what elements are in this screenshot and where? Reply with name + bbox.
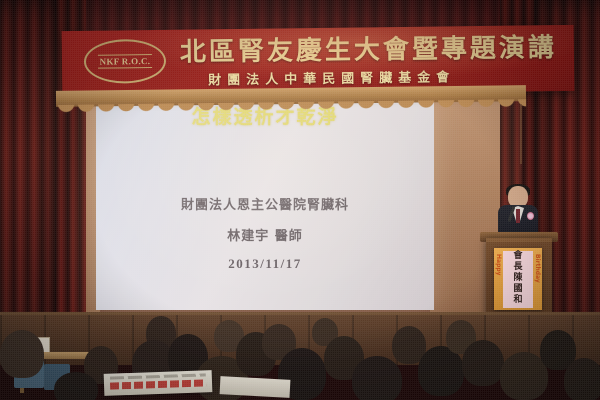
slide-line-date: 2013/11/17 [96, 256, 434, 272]
audience-member [564, 358, 600, 400]
handout-text-line [110, 373, 206, 379]
slide-line-presenter: 林建宇 醫師 [96, 225, 434, 244]
nkf-logo-text: NKF R.O.C. [98, 54, 153, 69]
flower-corsage-icon [527, 212, 534, 220]
program-handout-secondary [220, 376, 291, 398]
speaker-tie [516, 209, 520, 223]
nkf-logo-icon: NKF R.O.C. [84, 39, 167, 84]
handout-headline [110, 379, 206, 389]
hanging-cable [520, 104, 522, 164]
slide-line-organization: 財團法人恩主公醫院腎臟科 [96, 194, 434, 213]
audience-member [0, 330, 44, 378]
banner-subtitle: 財團法人中華民國腎臟基金會 [208, 66, 455, 88]
podium-sign-name: 會長陳國和 [494, 251, 542, 306]
audience-member [462, 340, 504, 386]
banner-main-title: 北區腎友慶生大會暨專題演講 [180, 27, 557, 69]
projection-screen: 怎樣透析才乾淨 財團法人恩主公醫院腎臟科 林建宇 醫師 2013/11/17 [96, 96, 434, 310]
audience-member [54, 372, 98, 400]
program-handout [104, 370, 213, 396]
conference-hall-photo: 怎樣透析才乾淨 財團法人恩主公醫院腎臟科 林建宇 醫師 2013/11/17 N… [0, 0, 600, 400]
slide-body: 財團法人恩主公醫院腎臟科 林建宇 醫師 2013/11/17 [96, 194, 434, 284]
podium-sign: Happy Birthday 會長陳國和 [494, 248, 542, 310]
audience-member [352, 356, 402, 400]
